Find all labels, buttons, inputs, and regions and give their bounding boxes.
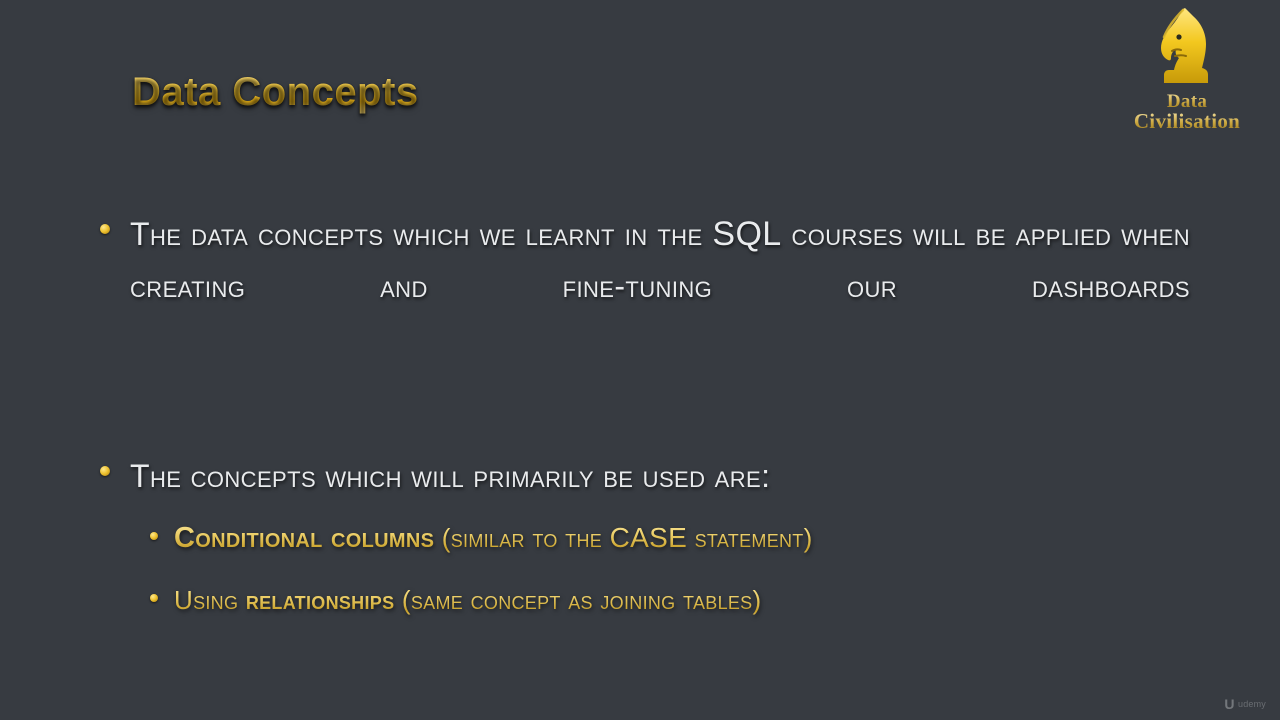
sub-bullet-2-paren: (same concept as joining tables) [394, 585, 761, 615]
udemy-watermark-label: udemy [1238, 699, 1266, 709]
sub-bullet-item-2: Using relationships (same concept as joi… [150, 580, 1170, 620]
logo-text-line-2: Civilisation [1112, 111, 1262, 132]
brand-logo: Data Civilisation [1112, 6, 1262, 146]
bullet-2-text: The concepts which will primarily be use… [130, 450, 770, 502]
sub-bullet-1-paren-part1: (similar to the [434, 523, 609, 553]
bullet-dot-icon [100, 466, 110, 476]
chess-knight-icon [1112, 6, 1262, 92]
sub-bullet-item-1: Conditional columns (similar to the CASE… [150, 518, 1170, 558]
bullet-1-text: The data concepts which we learnt in the… [130, 208, 1190, 364]
bullet-1-text-part1: The data concepts which we learnt in the [130, 216, 712, 252]
sub-bullet-2-text: Using relationships (same concept as joi… [174, 580, 761, 620]
sub-bullet-1-text: Conditional columns (similar to the CASE… [174, 518, 813, 558]
bullet-item-2: The concepts which will primarily be use… [100, 450, 1100, 502]
sub-bullet-1-paren-part2: statement) [687, 523, 813, 553]
udemy-logo-icon: U [1224, 696, 1234, 712]
bullet-1-emphasis-sql: SQL [712, 215, 781, 253]
slide-canvas: Data Concepts Data Civilisation [0, 0, 1280, 720]
sub-bullet-2-bold-word: relationships [246, 585, 395, 615]
bullet-dot-icon [150, 532, 158, 540]
bullet-dot-icon [150, 594, 158, 602]
sub-bullet-2-lead: Using [174, 585, 246, 615]
bullet-item-1: The data concepts which we learnt in the… [100, 208, 1190, 364]
bullet-dot-icon [100, 224, 110, 234]
udemy-watermark: U udemy [1224, 696, 1266, 712]
sub-bullet-1-bold-lead: Conditional columns [174, 522, 434, 554]
page-title: Data Concepts [132, 70, 419, 115]
sub-bullet-1-emphasis-case: CASE [610, 522, 687, 553]
